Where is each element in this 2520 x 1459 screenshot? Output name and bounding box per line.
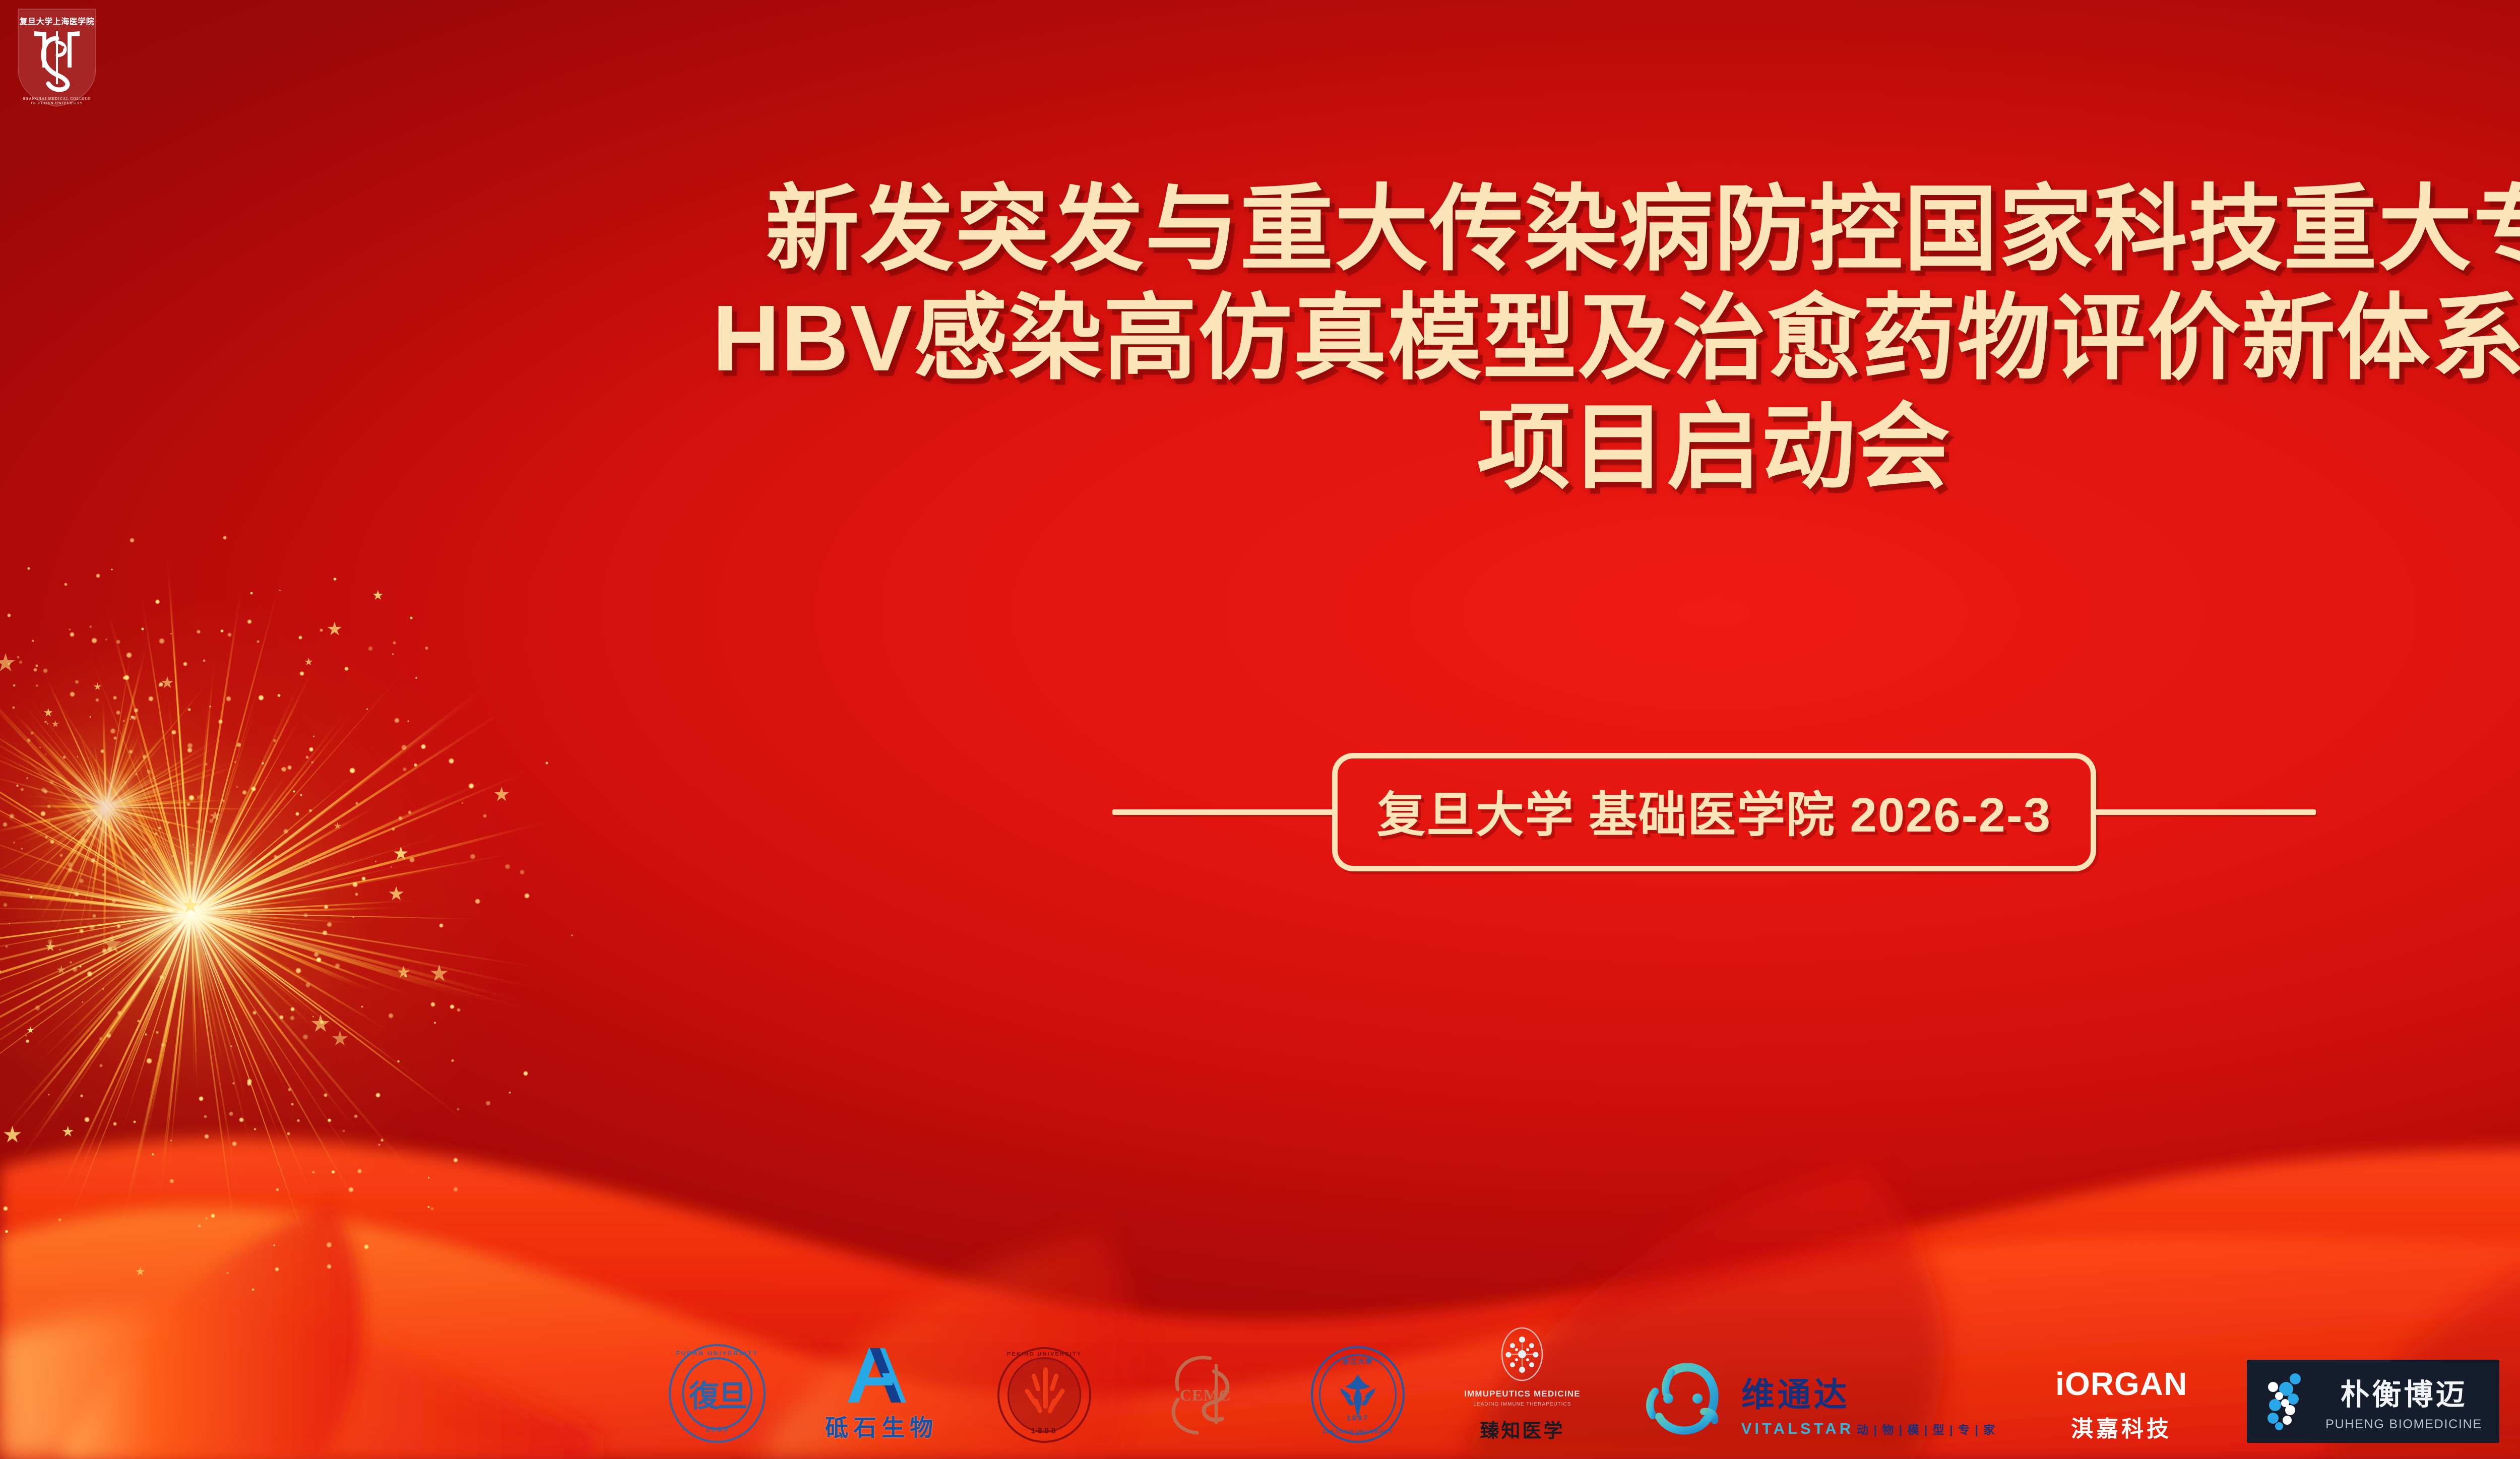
cemc-mark-icon: CEMC [1151,1347,1251,1443]
immupeutics-tagline: LEADING IMMUNE THERAPEUTICS [1473,1402,1571,1407]
sponsor-logo-cemc: CEMC [1151,1347,1251,1443]
subtitle-banner: 复旦大学 基础医学院 2026-2-3 [0,753,2520,871]
pku-seal-glyph [1018,1367,1071,1423]
dishi-letter-a-icon [839,1344,924,1405]
svg-text:SHANGHAI MEDICAL COLLEGE: SHANGHAI MEDICAL COLLEGE [23,96,91,101]
pku-seal-year: 1898 [997,1427,1091,1436]
sponsor-logo-fudan-university: FUDAN UNIVERSITY 復旦 1905 [669,1344,766,1443]
vitalstar-cn-name: 维通达 [1741,1368,1850,1416]
iorgan-cn-name: 淇嘉科技 [2071,1411,2172,1443]
puheng-molecule-icon [2264,1372,2312,1431]
sponsor-logo-dishi-biology: 砥石生物 [825,1344,938,1443]
sponsor-logo-peking-university: PEKING UNIVERSITY 1898 [997,1347,1091,1443]
iorgan-en-name: iORGAN [2055,1365,2187,1403]
sponsor-logo-strip: FUDAN UNIVERSITY 復旦 1905 砥石生物 PEKING UNI… [0,1324,2520,1452]
fudan-seal-year: 1905 [669,1425,766,1434]
immupeutics-en-name: IMMUPEUTICS MEDICINE [1464,1389,1581,1399]
fudan-seal-glyph: 復旦 [688,1363,746,1424]
vitalstar-en-name: VITALSTAR [1741,1420,1854,1438]
zju-seal-en: ZHEJIANG UNIVERSITY [1311,1429,1405,1435]
fudan-seal-arc-text: FUDAN UNIVERSITY [669,1350,766,1357]
title-line-3: 项目启动会 [0,396,2520,500]
immupeutics-cell-icon [1492,1324,1552,1384]
banner-rule-left [1112,809,1334,815]
puheng-en-name: PUHENG BIOMEDICINE [2325,1417,2482,1432]
pku-seal-arc-text: PEKING UNIVERSITY [997,1351,1091,1357]
title-line-1: 新发突发与重大传染病防控国家科技重大专项 [0,177,2520,282]
banner-rule-right [2094,809,2316,815]
immupeutics-cn-name: 臻知医学 [1480,1415,1564,1443]
sponsor-logo-zhejiang-university: 浙江大學 1897 ZHEJIANG UNIVERSITY [1311,1346,1405,1443]
vitalstar-animal-icon [1640,1362,1733,1443]
sponsor-logo-immupeutics-medicine: IMMUPEUTICS MEDICINE LEADING IMMUNE THER… [1464,1324,1581,1443]
zju-seal-year: 1897 [1311,1414,1405,1422]
sponsor-logo-iorgan: iORGAN 淇嘉科技 [2055,1365,2187,1443]
title-line-2: HBV感染高仿真模型及治愈药物评价新体系研究 [0,286,2520,391]
subtitle-box: 复旦大学 基础医学院 2026-2-3 [1332,753,2096,871]
svg-text:复旦大学上海医学院: 复旦大学上海医学院 [19,17,95,26]
sponsor-logo-puheng-biomedicine: 朴衡博迈 PUHENG BIOMEDICINE [2247,1360,2499,1443]
zju-seal-cn: 浙江大學 [1311,1356,1405,1366]
zju-seal-bird-icon [1336,1372,1379,1419]
svg-text:OF FUDAN UNIVERSITY: OF FUDAN UNIVERSITY [31,101,83,105]
dishi-cn-name: 砥石生物 [825,1410,938,1443]
vitalstar-cn-tagline: 动 | 物 | 模 | 型 | 专 | 家 [1857,1420,1996,1437]
cemc-text: CEMC [1180,1386,1231,1404]
subtitle-text: 复旦大学 基础医学院 2026-2-3 [1377,776,2051,846]
puheng-cn-name: 朴衡博迈 [2341,1371,2468,1413]
event-title-block: 新发突发与重大传染病防控国家科技重大专项 HBV感染高仿真模型及治愈药物评价新体… [0,177,2520,500]
shanghai-medical-college-fudan-university-seal: 复旦大学上海医学院 SHANGHAI MEDICAL COLLEGE OF FU… [14,7,100,108]
sponsor-logo-vitalstar: 维通达 VITALSTAR 动 | 物 | 模 | 型 | 专 | 家 [1640,1362,1996,1443]
